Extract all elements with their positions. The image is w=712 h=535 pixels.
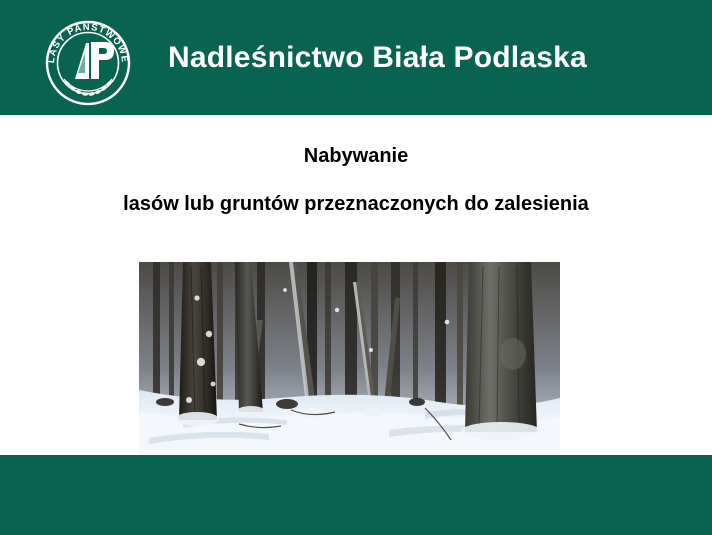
footer-band <box>0 455 712 535</box>
organization-title: Nadleśnictwo Biała Podlaska <box>168 39 587 77</box>
lasy-panstwowe-logo: LASY PAŃSTWOWE <box>42 17 134 107</box>
header-band: LASY PAŃSTWOWE <box>0 0 712 115</box>
presentation-slide: LASY PAŃSTWOWE <box>0 0 712 535</box>
slide-title-line-1: Nabywanie <box>0 143 712 169</box>
title-block: Nabywanie lasów lub gruntów przeznaczony… <box>0 143 712 217</box>
slide-title-line-2: lasów lub gruntów przeznaczonych do zale… <box>0 191 712 217</box>
winter-forest-photo <box>139 262 560 455</box>
